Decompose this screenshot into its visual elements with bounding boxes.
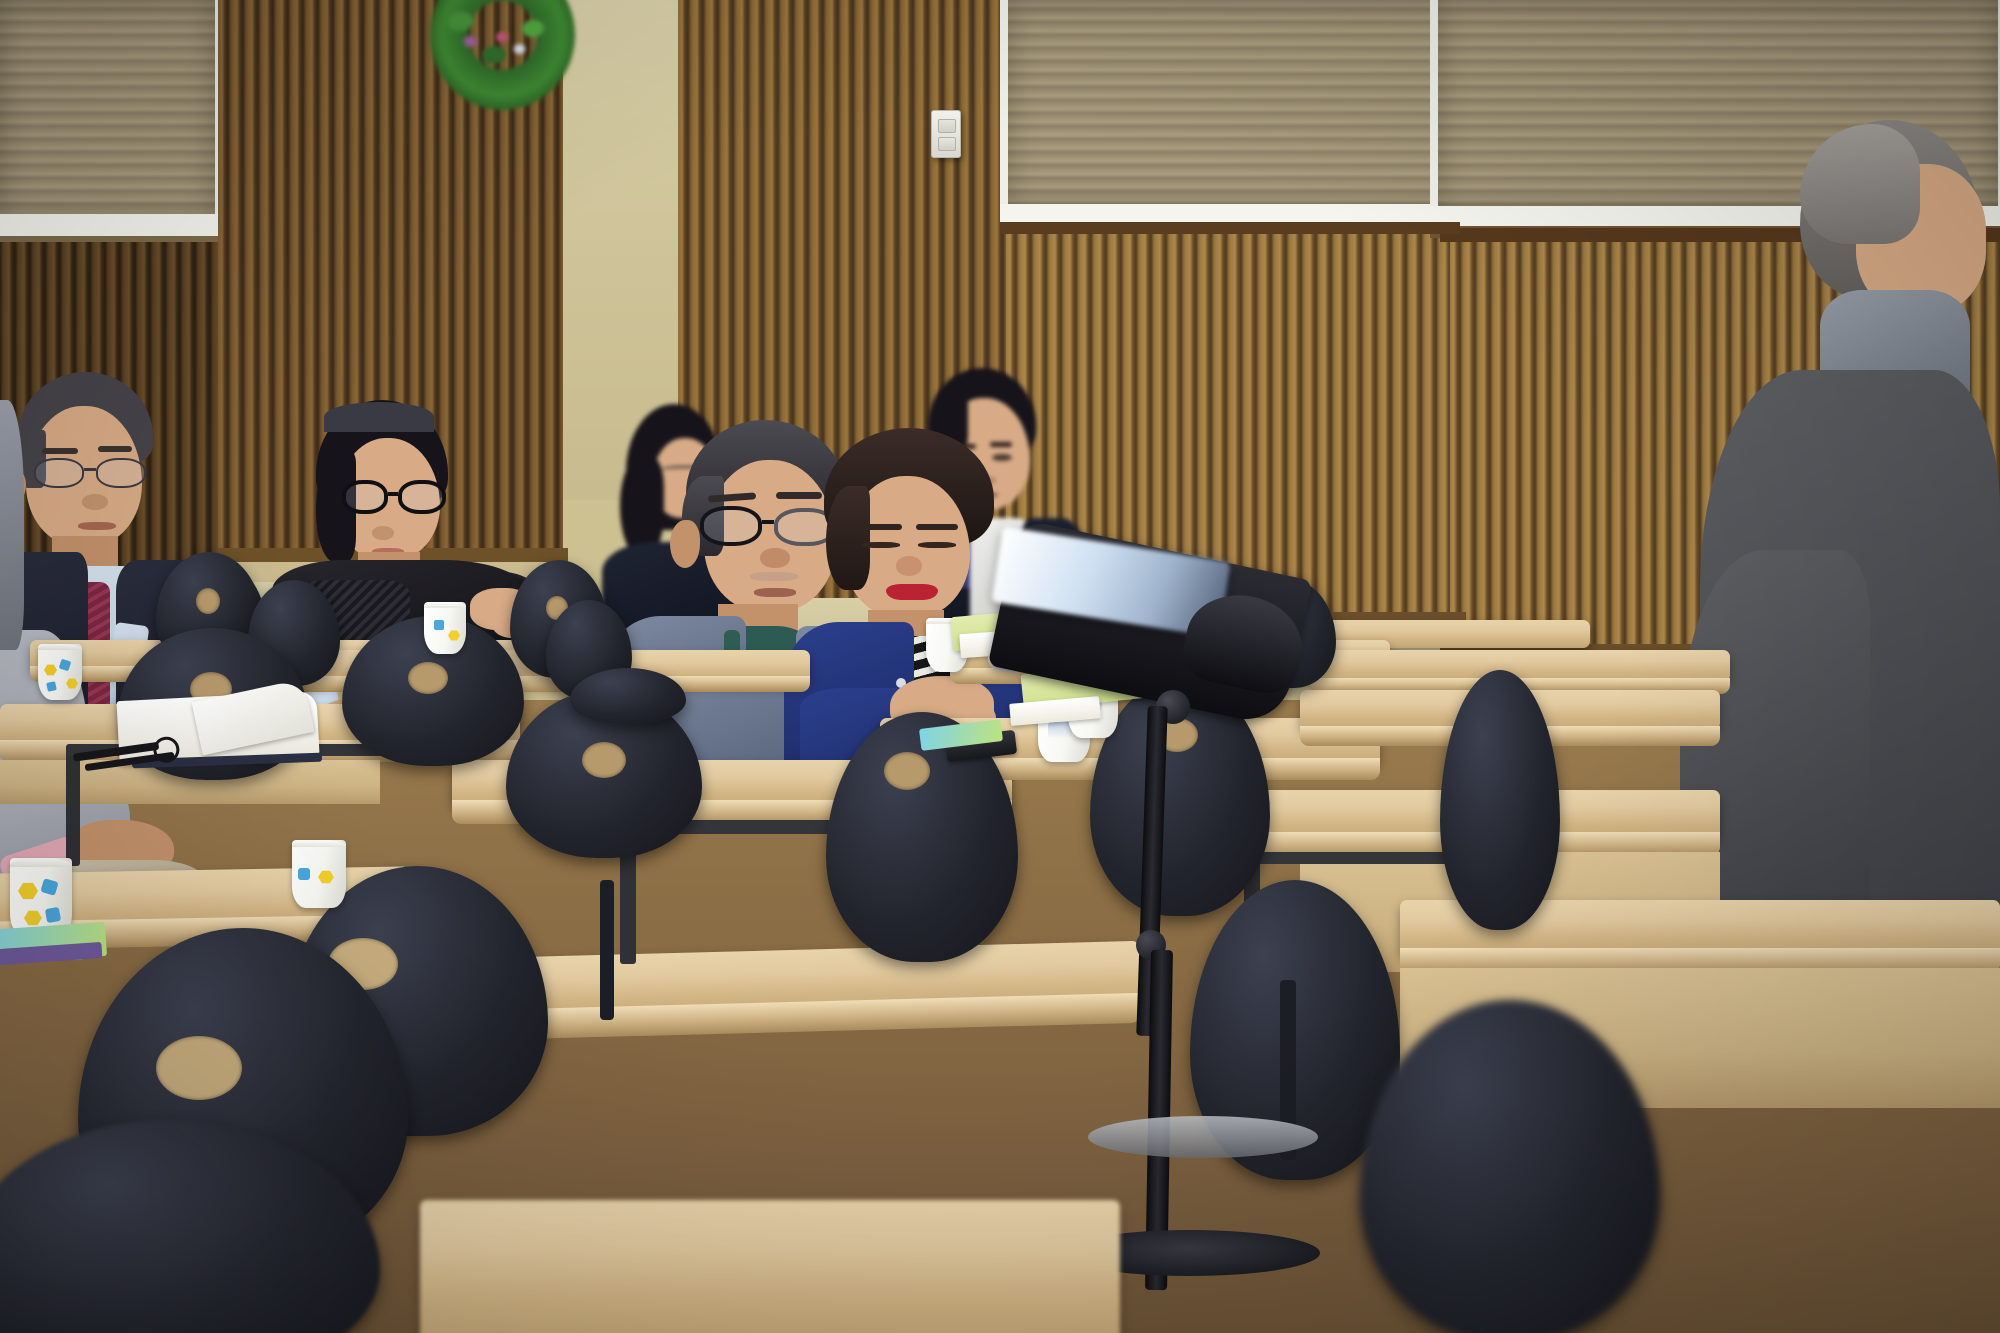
blind-rail-left: [0, 214, 226, 236]
person-far-left-edge: [0, 400, 24, 650]
hair-speaker: [1800, 124, 1920, 244]
headband: [324, 402, 434, 432]
nose-man-centre: [760, 548, 790, 568]
chair-leg-centre: [600, 880, 614, 1020]
eyebrow-left-woman-blue: [860, 524, 902, 530]
nose-woman-blue: [896, 556, 922, 576]
lips-woman-blue: [886, 584, 938, 600]
eyebrow-right-woman-blue: [916, 524, 958, 530]
hair-side-woman-blue: [826, 486, 870, 590]
nose-woman-headband: [372, 526, 394, 540]
chair-chrome-rail: [1088, 1116, 1318, 1158]
glasses-woman-headband: [342, 480, 450, 520]
eye-closed-right-woman-blue: [918, 542, 956, 548]
wall-trim-centre: [1000, 222, 1460, 234]
desk-foreground-blurred: [420, 1200, 1120, 1333]
paper-cup-5[interactable]: [292, 840, 346, 908]
chair-row2-d[interactable]: [570, 668, 686, 724]
eye-closed-left-woman-blue: [862, 542, 900, 548]
person-speaker-standing-right: [1760, 120, 2000, 1020]
desk-row1-centre-edge: [250, 676, 810, 692]
paper-cup-1[interactable]: [38, 644, 82, 700]
ear-man-centre: [670, 520, 700, 568]
eyebrow-left-man-suit: [42, 448, 78, 454]
photograph-scene: [0, 0, 2000, 1333]
light-switch-rocker-bottom[interactable]: [938, 137, 956, 151]
light-switch-plate[interactable]: [931, 110, 961, 158]
paper-cup-2[interactable]: [424, 602, 466, 654]
moustache-man-centre: [750, 572, 798, 581]
light-switch-rocker-top[interactable]: [938, 119, 956, 133]
mouth-man-suit: [78, 522, 116, 530]
eyebrow-right-man-suit: [98, 446, 132, 452]
window-blind-left: [0, 0, 215, 218]
nose-man-suit: [82, 494, 108, 510]
mouth-man-centre: [754, 588, 796, 597]
glasses-man-suit: [34, 458, 152, 492]
